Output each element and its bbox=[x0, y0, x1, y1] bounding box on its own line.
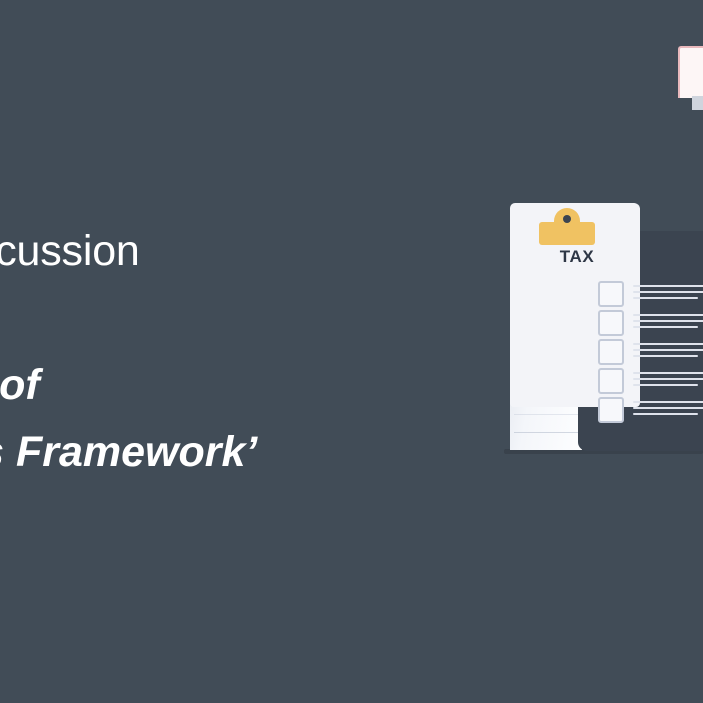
clipped-document-corner-stem bbox=[692, 96, 703, 110]
row-text-lines bbox=[633, 371, 703, 390]
row-text-lines bbox=[633, 313, 703, 332]
clipboard-clip-icon bbox=[539, 222, 595, 245]
checkbox-icon bbox=[598, 397, 624, 423]
headline-block: …ses discussion … the …zation of …Assets… bbox=[0, 218, 460, 486]
checkbox-icon bbox=[598, 310, 624, 336]
headline-line-4: …Assets Framework’ bbox=[0, 419, 460, 486]
headline-line-2: … the bbox=[0, 285, 460, 352]
checkbox-row bbox=[598, 337, 703, 366]
checkbox-icon bbox=[598, 281, 624, 307]
tax-clipboard-illustration: TAX bbox=[500, 195, 703, 475]
checkbox-row bbox=[598, 279, 703, 308]
tax-label: TAX bbox=[532, 247, 622, 267]
clipped-document-corner-icon bbox=[678, 46, 703, 98]
clipboard-clip-hole bbox=[563, 215, 571, 223]
checkbox-row bbox=[598, 395, 703, 424]
checkbox-row bbox=[598, 366, 703, 395]
checkbox-row-list bbox=[598, 279, 703, 424]
slide-canvas: …ses discussion … the …zation of …Assets… bbox=[0, 0, 703, 703]
row-text-lines bbox=[633, 284, 703, 303]
checkbox-row bbox=[598, 308, 703, 337]
headline-line-1: …ses discussion bbox=[0, 218, 460, 285]
row-text-lines bbox=[633, 342, 703, 361]
checkbox-icon bbox=[598, 368, 624, 394]
headline-line-3: …zation of bbox=[0, 352, 460, 419]
checkbox-icon bbox=[598, 339, 624, 365]
row-text-lines bbox=[633, 400, 703, 419]
